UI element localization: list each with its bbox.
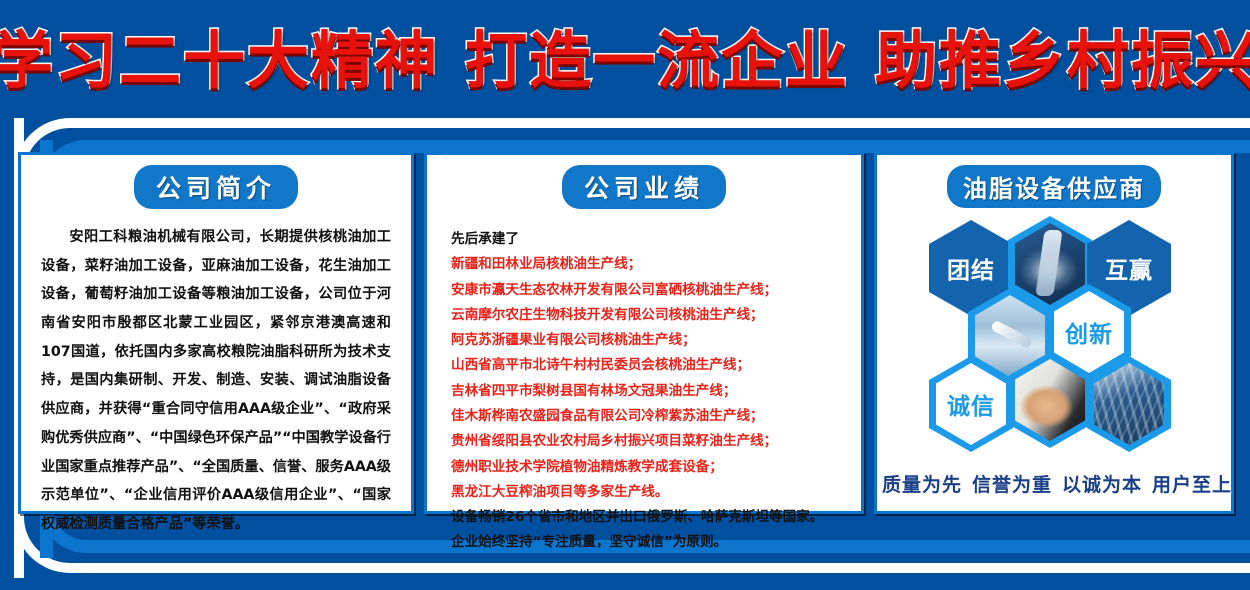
handshake-photo <box>1015 359 1085 441</box>
performance-item: 安康市瀛天生态农林开发有限公司富硒核桃油生产线； <box>451 278 861 303</box>
performance-item: 云南摩尔农庄生物科技开发有限公司核桃油生产线； <box>451 303 861 328</box>
performance-item: 新疆和田林业局核桃油生产线； <box>451 252 861 277</box>
performance-item: 山西省高平市北诗午村村民委员会核桃油生产线； <box>451 353 861 378</box>
panel-container: 公司简介 安阳工科粮油机械有限公司，长期提供核桃油加工设备，菜籽油加工设备，亚麻… <box>18 152 1234 514</box>
performance-lead: 先后承建了 <box>451 227 861 252</box>
handshake-photo-fill <box>1015 359 1085 441</box>
panel-title-company-intro: 公司简介 <box>134 165 298 209</box>
performance-list: 先后承建了 新疆和田林业局核桃油生产线；安康市瀛天生态农林开发有限公司富硒核桃油… <box>451 227 861 556</box>
performance-item: 贵州省绥阳县农业农村局乡村振兴项目菜籽油生产线； <box>451 429 861 454</box>
performance-item: 吉林省四平市梨树县国有林场文冠果油生产线； <box>451 379 861 404</box>
performance-item: 佳木斯桦南农盛园食品有限公司冷榨紫苏油生产线； <box>451 404 861 429</box>
slogan-phrase: 以诚为本 <box>1062 474 1142 496</box>
performance-tail-line: 设备畅销26个省市和地区并出口俄罗斯、哈萨克斯坦等国家。 <box>451 505 861 530</box>
hexagon-cluster: 团结互赢创新诚信 <box>877 214 1237 464</box>
performance-tail: 设备畅销26个省市和地区并出口俄罗斯、哈萨克斯坦等国家。企业始终坚持“专注质量，… <box>451 505 861 556</box>
slogan-phrase: 用户至上 <box>1152 474 1232 496</box>
title-part-3: 助推乡村振兴 <box>875 24 1250 97</box>
performance-items: 新疆和田林业局核桃油生产线；安康市瀛天生态农林开发有限公司富硒核桃油生产线；云南… <box>451 252 861 505</box>
panel-title-supplier: 油脂设备供应商 <box>947 165 1161 208</box>
performance-item: 阿克苏浙疆果业有限公司核桃油生产线； <box>451 328 861 353</box>
hexagon-label: 诚信 <box>936 363 1006 445</box>
skyscraper-photo <box>1094 363 1164 445</box>
badge-wrap-intro: 公司简介 <box>21 165 411 209</box>
slogan-phrase: 质量为先 <box>882 474 962 496</box>
panel-company-performance: 公司业绩 先后承建了 新疆和田林业局核桃油生产线；安康市瀛天生态农林开发有限公司… <box>424 152 864 514</box>
title-part-1: 学习二十大精神 <box>0 24 439 97</box>
panel-supplier-values: 油脂设备供应商 团结互赢创新诚信 质量为先信誉为重以诚为本用户至上 <box>874 152 1234 514</box>
panel-company-intro: 公司简介 安阳工科粮油机械有限公司，长期提供核桃油加工设备，菜籽油加工设备，亚麻… <box>18 152 414 514</box>
title-part-2: 打造一流企业 <box>465 24 849 97</box>
page-title: 学习二十大精神打造一流企业助推乡村振兴 <box>0 10 1250 100</box>
poster-root: 学习二十大精神打造一流企业助推乡村振兴 公司简介 安阳工科粮油机械有限公司，长期… <box>0 0 1250 590</box>
supplier-slogan: 质量为先信誉为重以诚为本用户至上 <box>877 470 1231 497</box>
skyscraper-photo-fill <box>1094 363 1164 445</box>
badge-wrap-supplier: 油脂设备供应商 <box>877 165 1231 208</box>
performance-item: 德州职业技术学院植物油精炼教学成套设备； <box>451 455 861 480</box>
company-intro-text: 安阳工科粮油机械有限公司，长期提供核桃油加工设备，菜籽油加工设备，亚麻油加工设备… <box>41 223 391 539</box>
performance-item: 黑龙江大豆榨油项目等多家生产线。 <box>451 480 861 505</box>
performance-tail-line: 企业始终坚持“专注质量，坚守诚信”为原则。 <box>451 530 861 555</box>
poster-title-band: 学习二十大精神打造一流企业助推乡村振兴 <box>0 0 1250 110</box>
badge-wrap-performance: 公司业绩 <box>427 165 861 209</box>
slogan-phrase: 信誉为重 <box>972 474 1052 496</box>
panel-title-company-performance: 公司业绩 <box>562 165 726 209</box>
